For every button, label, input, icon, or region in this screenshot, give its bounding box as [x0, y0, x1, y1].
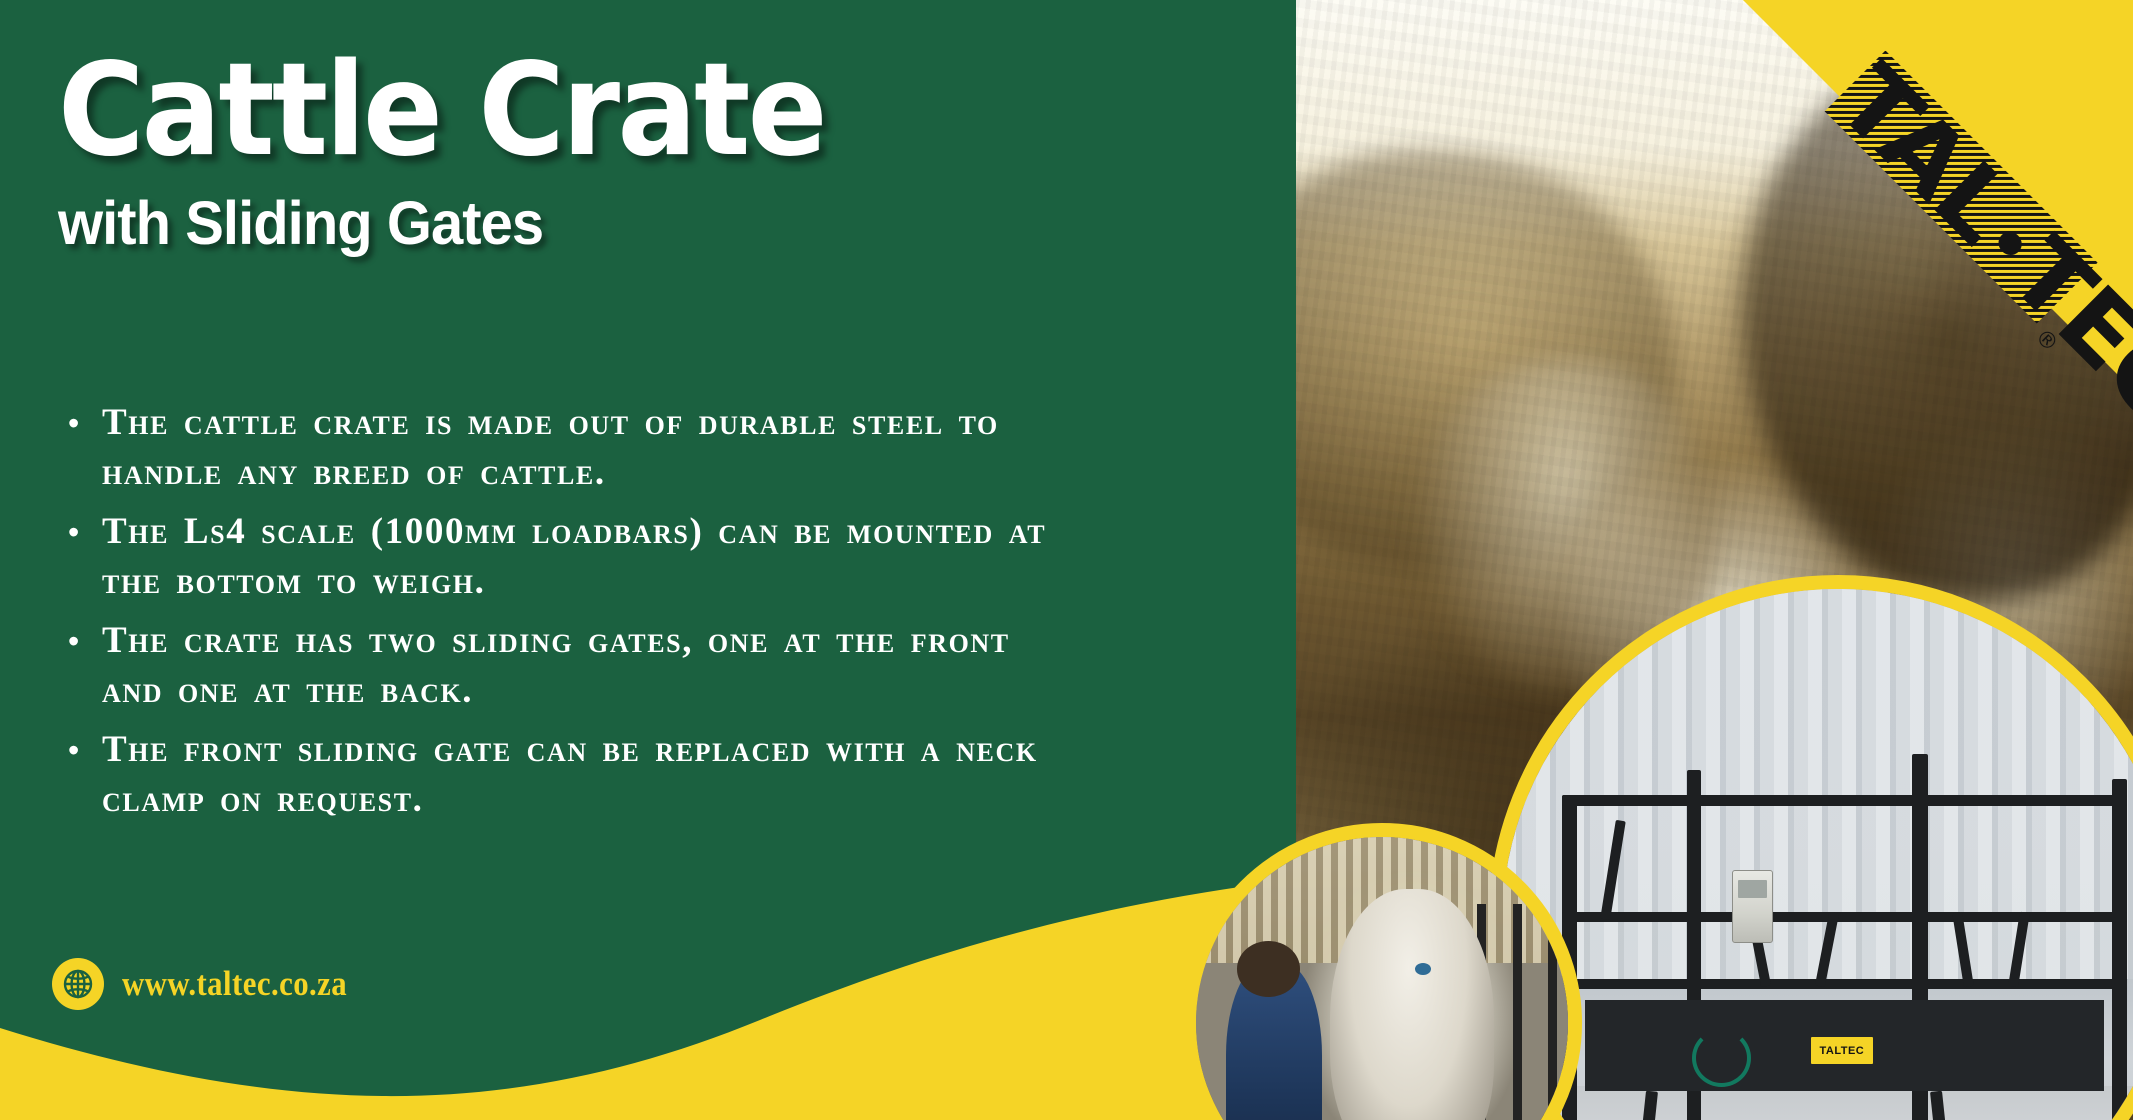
feature-text: The crate has two sliding gates, one at …: [102, 616, 1072, 716]
bullet-marker-icon: •: [62, 616, 102, 666]
title-block: Cattle Crate with Sliding Gates: [58, 46, 891, 255]
handler-with-cow-in-crate-photo: [1182, 823, 1582, 1120]
feature-text: The cattle crate is made out of durable …: [102, 398, 1072, 498]
globe-icon: [52, 958, 104, 1010]
bullet-marker-icon: •: [62, 507, 102, 557]
taltec-badge: TALTEC: [1811, 1037, 1873, 1064]
cattle-crate-equipment-photo: TALTEC: [1488, 575, 2133, 1120]
handler-head: [1237, 941, 1300, 997]
green-cable: [1692, 1029, 1751, 1087]
page-subtitle: with Sliding Gates: [58, 191, 850, 255]
scale-indicator-unit: [1732, 870, 1774, 943]
bullet-marker-icon: •: [62, 398, 102, 448]
list-item: • The Ls4 scale (1000mm loadbars) can be…: [62, 507, 1072, 607]
taltec-corner-logo: TAL•TEC ®: [1713, 0, 2133, 420]
feature-text: The front sliding gate can be replaced w…: [102, 725, 1072, 825]
white-cow: [1330, 889, 1494, 1120]
marketing-banner: Cattle Crate with Sliding Gates • The ca…: [0, 0, 2133, 1120]
list-item: • The cattle crate is made out of durabl…: [62, 398, 1072, 498]
cattle-crate-frame: TALTEC: [1562, 770, 2126, 1120]
website-url-text: www.taltec.co.za: [122, 964, 347, 1004]
list-item: • The front sliding gate can be replaced…: [62, 725, 1072, 825]
cow-eye: [1415, 963, 1431, 975]
page-title: Cattle Crate: [58, 46, 825, 177]
cow-body-shape: [1295, 150, 1675, 570]
list-item: • The crate has two sliding gates, one a…: [62, 616, 1072, 716]
website-link[interactable]: www.taltec.co.za: [52, 958, 378, 1010]
taltec-logo-mark: TAL•TEC ®: [1727, 0, 2133, 414]
feature-text: The Ls4 scale (1000mm loadbars) can be m…: [102, 507, 1072, 607]
feature-list: • The cattle crate is made out of durabl…: [62, 398, 1072, 834]
svg-text:TAL•TEC: TAL•TEC: [1815, 45, 2133, 414]
bullet-marker-icon: •: [62, 725, 102, 775]
